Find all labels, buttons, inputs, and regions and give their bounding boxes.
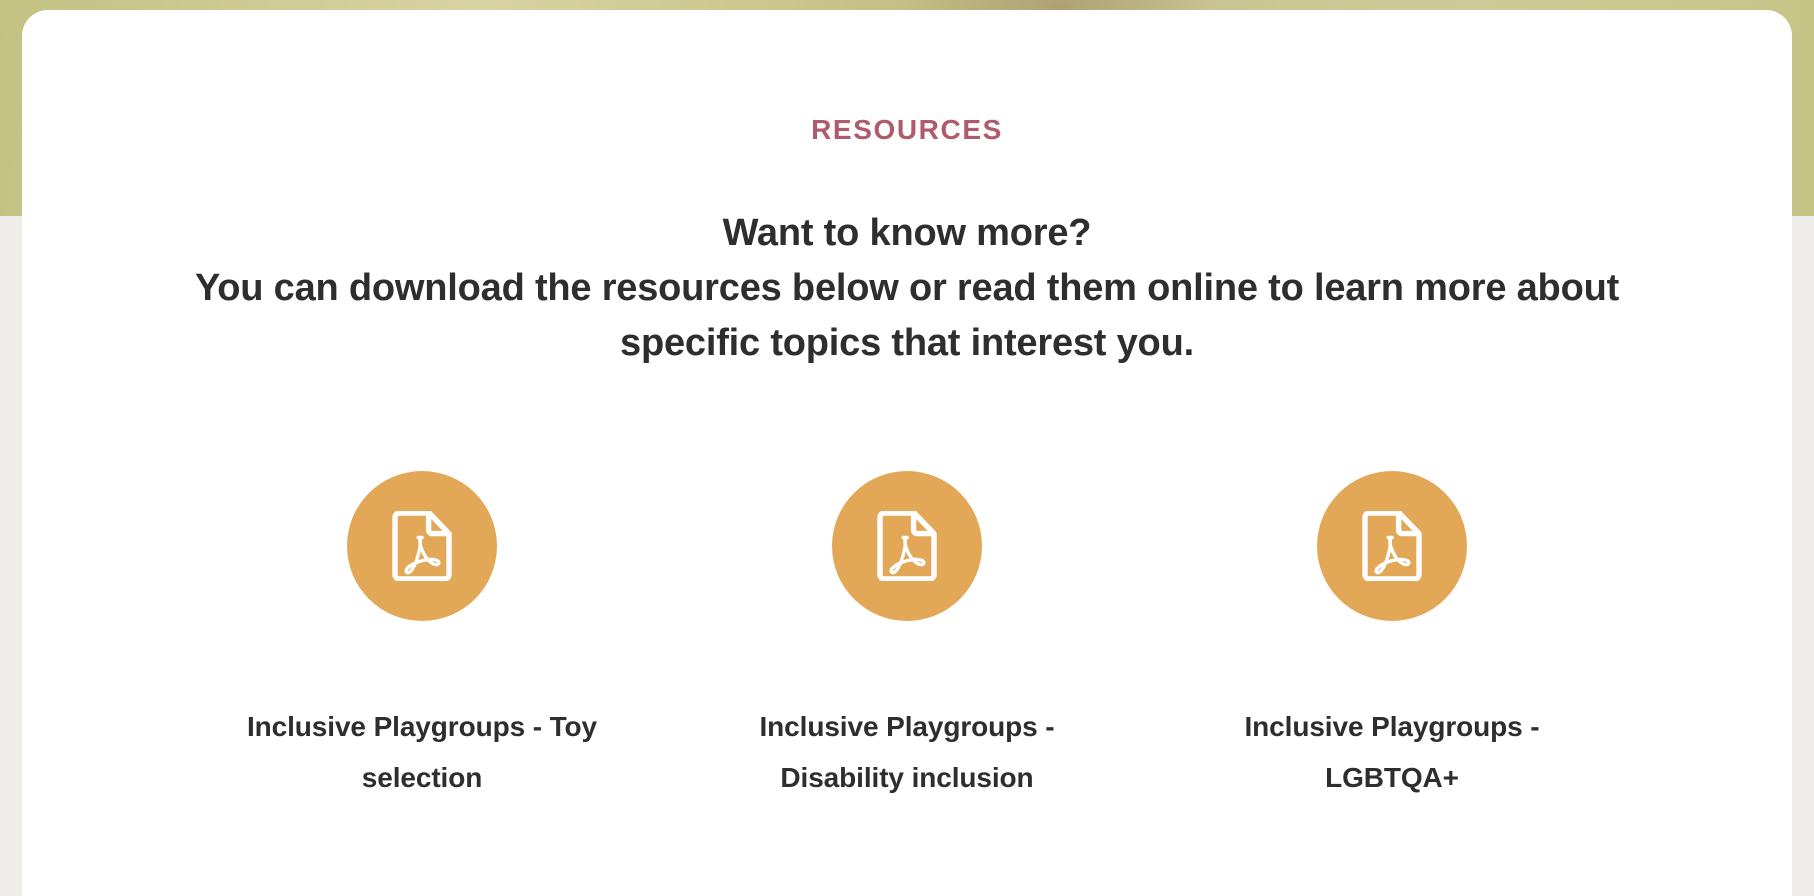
section-eyebrow-heading: RESOURCES — [22, 116, 1792, 144]
resource-title: Inclusive Playgroups - Toy selection — [242, 701, 602, 803]
resource-item-toy-selection[interactable]: Inclusive Playgroups - Toy selection — [222, 471, 622, 803]
pdf-file-icon — [876, 511, 938, 581]
section-intro-text: Want to know more? You can download the … — [87, 206, 1727, 371]
pdf-file-icon — [1361, 511, 1423, 581]
resource-title: Inclusive Playgroups - Disability inclus… — [727, 701, 1087, 803]
resource-badge[interactable] — [832, 471, 982, 621]
resources-section-card: RESOURCES Want to know more? You can dow… — [22, 10, 1792, 896]
intro-line-2: You can download the resources below or … — [87, 261, 1727, 316]
intro-line-3: specific topics that interest you. — [87, 316, 1727, 371]
resource-title: Inclusive Playgroups - LGBTQA+ — [1212, 701, 1572, 803]
intro-line-1: Want to know more? — [87, 206, 1727, 261]
resource-item-disability-inclusion[interactable]: Inclusive Playgroups - Disability inclus… — [707, 471, 1107, 803]
resource-list: Inclusive Playgroups - Toy selection Inc… — [22, 471, 1792, 803]
pdf-file-icon — [391, 511, 453, 581]
resource-item-lgbtqa[interactable]: Inclusive Playgroups - LGBTQA+ — [1192, 471, 1592, 803]
resource-badge[interactable] — [347, 471, 497, 621]
resource-badge[interactable] — [1317, 471, 1467, 621]
